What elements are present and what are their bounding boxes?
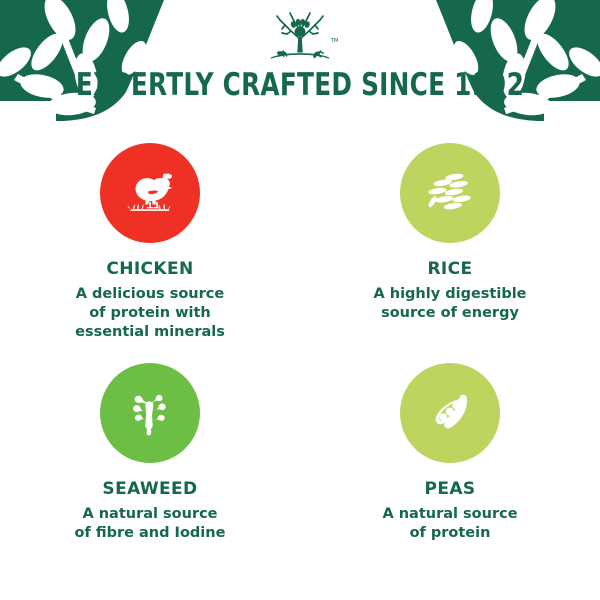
pea-pod-icon bbox=[419, 382, 481, 444]
ingredient-infographic: TM EXPERTLY CRAFTED SINCE 1992 bbox=[0, 0, 600, 600]
seaweed-badge bbox=[100, 363, 200, 463]
chicken-hen-icon bbox=[119, 162, 181, 224]
tree-icon bbox=[271, 13, 329, 59]
ingredient-name: RICE bbox=[427, 260, 472, 279]
ingredient-name: PEAS bbox=[424, 480, 475, 499]
trademark-mark: TM bbox=[330, 38, 338, 44]
ingredient-card-seaweed[interactable]: SEAWEED A natural source of fibre and Io… bbox=[0, 355, 300, 575]
seaweed-icon bbox=[119, 382, 181, 444]
ingredient-card-rice[interactable]: RICE A highly digestible source of energ… bbox=[300, 135, 600, 355]
ingredient-name: CHICKEN bbox=[106, 260, 193, 279]
cat-icon bbox=[313, 50, 324, 59]
brand-logo-tree-paw: TM bbox=[261, 12, 339, 64]
rice-badge bbox=[400, 143, 500, 243]
ingredient-description: A delicious source of protein with essen… bbox=[75, 285, 225, 342]
ingredient-card-chicken[interactable]: CHICKEN A delicious source of protein wi… bbox=[0, 135, 300, 355]
ingredient-description: A natural source of protein bbox=[382, 505, 517, 543]
headline-text: EXPERTLY CRAFTED SINCE 1992 bbox=[60, 67, 540, 103]
ingredient-description: A natural source of fibre and Iodine bbox=[75, 505, 226, 543]
ingredient-card-peas[interactable]: PEAS A natural source of protein bbox=[300, 355, 600, 575]
chicken-badge bbox=[100, 143, 200, 243]
dog-icon bbox=[277, 50, 287, 57]
peas-badge bbox=[400, 363, 500, 463]
ingredient-name: SEAWEED bbox=[102, 480, 197, 499]
ingredient-description: A highly digestible source of energy bbox=[373, 285, 526, 323]
ingredient-grid: CHICKEN A delicious source of protein wi… bbox=[0, 135, 600, 575]
rice-grains-icon bbox=[419, 162, 481, 224]
